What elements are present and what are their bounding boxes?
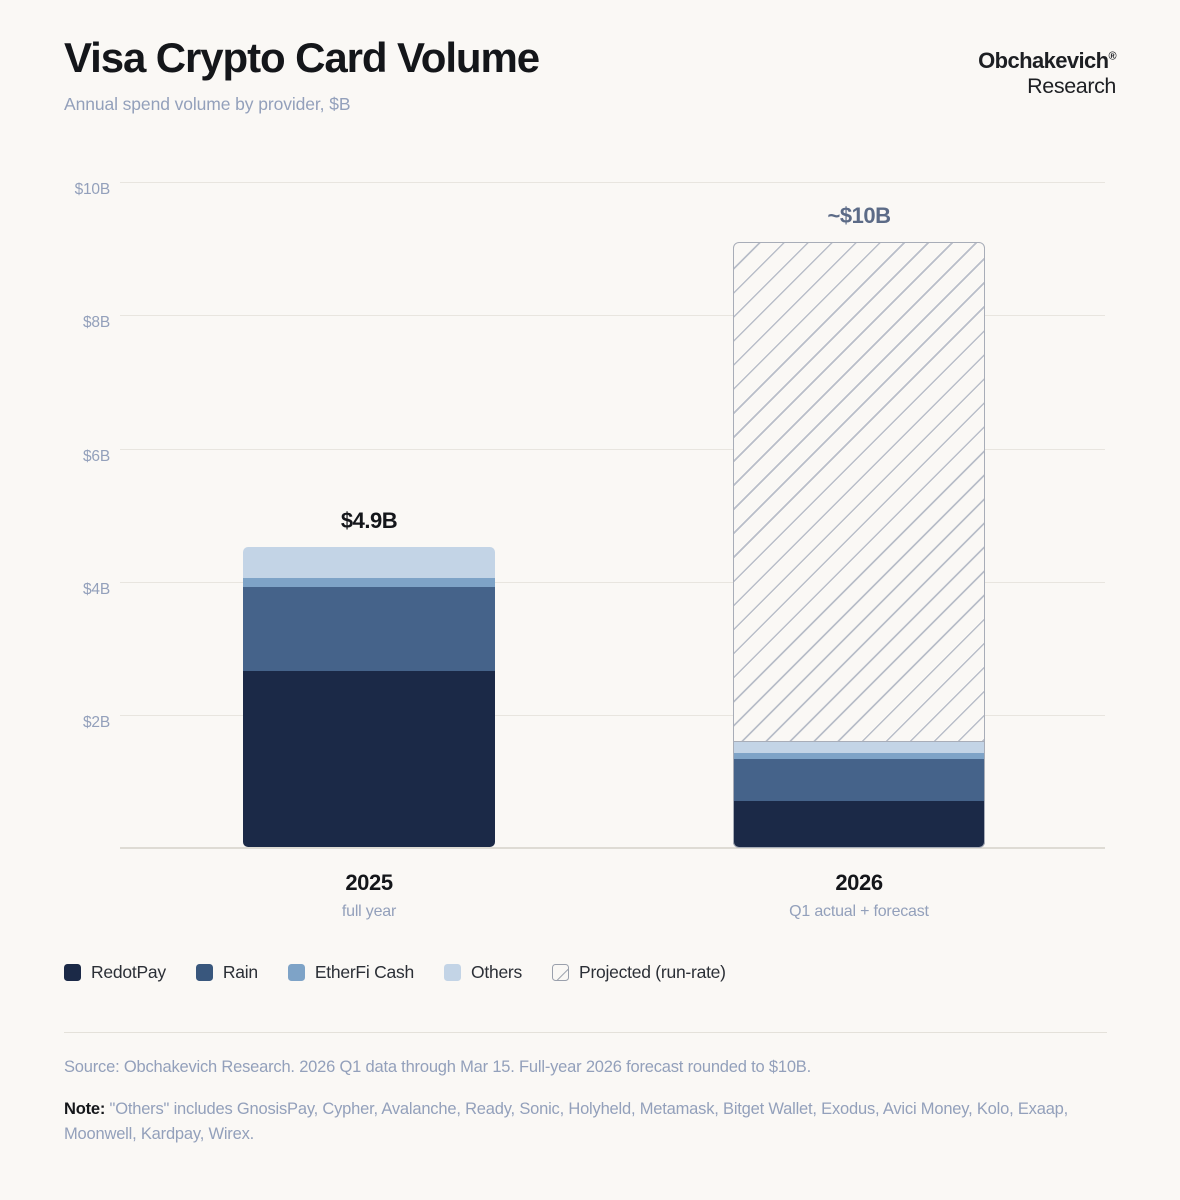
color-swatch-icon-redotpay [64, 964, 81, 981]
legend-label-projected: Projected (run-rate) [579, 962, 726, 983]
ytick-label-2b: $2B [42, 714, 110, 732]
color-swatch-icon-rain [196, 964, 213, 981]
hatch-swatch-icon-projected [552, 964, 569, 981]
plot-area: $10B $8B $6B $4B $2B $4.9B ~$10B 2025 fu… [0, 0, 1180, 1200]
bar-total-label-2026: ~$10B [733, 203, 985, 229]
bar-2025[interactable] [243, 547, 495, 847]
color-swatch-icon-others [444, 964, 461, 981]
bar-segment-projected-2026[interactable] [733, 242, 985, 742]
bar-total-label-2025: $4.9B [243, 508, 495, 534]
bar-segment-etherfi-cash-2025[interactable] [243, 578, 495, 587]
legend-label-redotpay: RedotPay [91, 962, 166, 983]
footnote-divider [64, 1032, 1107, 1033]
footnote-note-body: "Others" includes GnosisPay, Cypher, Ava… [64, 1100, 1068, 1143]
legend-item-etherfi-cash[interactable]: EtherFi Cash [288, 962, 414, 983]
ytick-label-6b: $6B [42, 448, 110, 466]
bar-segment-rain-2025[interactable] [243, 587, 495, 671]
bar-segment-redotpay-2026[interactable] [733, 801, 985, 847]
bar-segment-others-2025[interactable] [243, 547, 495, 578]
legend-label-others: Others [471, 962, 522, 983]
chart-legend: RedotPay Rain EtherFi Cash Others Projec… [64, 962, 726, 983]
gridline-10b [120, 182, 1105, 183]
legend-item-others[interactable]: Others [444, 962, 522, 983]
legend-item-projected[interactable]: Projected (run-rate) [552, 962, 726, 983]
footnote-note-label: Note: [64, 1100, 105, 1118]
bar-segment-rain-2026[interactable] [733, 759, 985, 801]
footnote-source: Source: Obchakevich Research. 2026 Q1 da… [64, 1058, 1107, 1077]
xaxis-sublabel-2026: Q1 actual + forecast [733, 903, 985, 921]
color-swatch-icon-etherfi-cash [288, 964, 305, 981]
ytick-label-10b: $10B [42, 181, 110, 199]
legend-item-rain[interactable]: Rain [196, 962, 258, 983]
legend-label-rain: Rain [223, 962, 258, 983]
ytick-label-8b: $8B [42, 314, 110, 332]
footnote-note: Note: "Others" includes GnosisPay, Cyphe… [64, 1097, 1107, 1147]
bar-segment-others-2026[interactable] [733, 742, 985, 753]
bar-segment-redotpay-2025[interactable] [243, 671, 495, 847]
ytick-label-4b: $4B [42, 581, 110, 599]
xaxis-label-2026: 2026 [733, 870, 985, 896]
xaxis-label-2025: 2025 [243, 870, 495, 896]
legend-item-redotpay[interactable]: RedotPay [64, 962, 166, 983]
chart-page: Visa Crypto Card Volume Annual spend vol… [0, 0, 1180, 1200]
bar-2026[interactable] [733, 742, 985, 847]
x-axis-line [120, 847, 1105, 849]
legend-label-etherfi-cash: EtherFi Cash [315, 962, 414, 983]
xaxis-sublabel-2025: full year [243, 903, 495, 921]
